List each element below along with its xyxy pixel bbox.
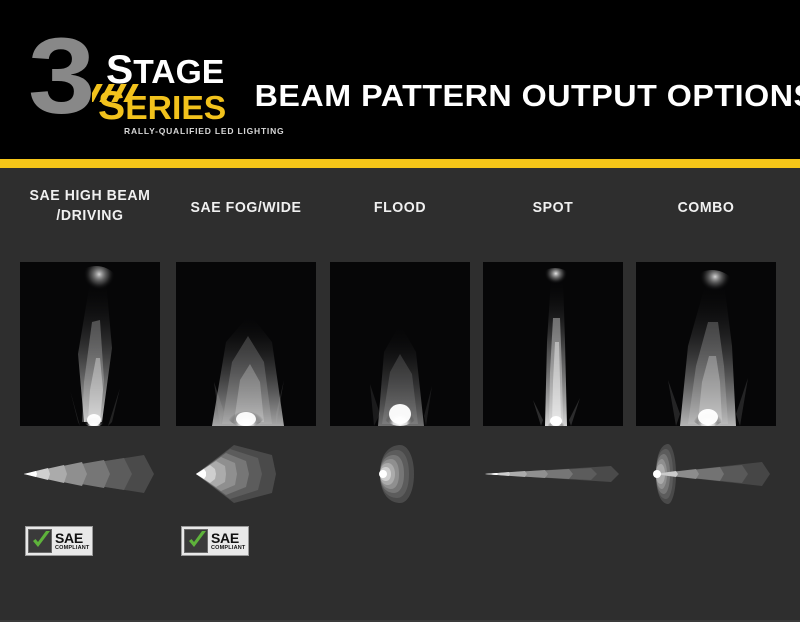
logo-tagline: RALLY-QUALIFIED LED LIGHTING — [124, 126, 284, 136]
sae-badge-main: SAE — [211, 531, 246, 545]
check-icon — [184, 529, 208, 553]
stage-series-logo: 3 STAGE SERIES RALLY-QUALIFIED LED LIGHT… — [28, 26, 258, 134]
sae-badge-sub: COMPLIANT — [55, 546, 90, 552]
beam-column-spot: SPOT — [483, 168, 623, 622]
sae-badge-text: SAE COMPLIANT — [55, 531, 90, 552]
check-icon — [28, 529, 52, 553]
logo-numeral-3: 3 — [28, 26, 91, 126]
night-photo-combo — [636, 262, 776, 426]
beam-pattern-columns: SAE HIGH BEAM /DRIVING — [0, 168, 800, 622]
beam-column-fog-wide: SAE FOG/WIDE — [176, 168, 316, 622]
logo-word-series: SERIES — [98, 90, 226, 124]
logo-series-cap: S — [98, 84, 125, 128]
column-label-combo: COMBO — [625, 198, 787, 218]
sae-badge-sub: COMPLIANT — [211, 546, 246, 552]
column-label-flood: FLOOD — [319, 198, 481, 218]
beam-pattern-infographic: 3 STAGE SERIES RALLY-QUALIFIED LED LIGHT… — [0, 0, 800, 622]
sae-compliant-badge-driving: SAE COMPLIANT — [25, 526, 93, 556]
sae-compliant-badge-fog-wide: SAE COMPLIANT — [181, 526, 249, 556]
column-label-spot: SPOT — [472, 198, 634, 218]
column-label-line1: FLOOD — [374, 199, 426, 216]
yellow-accent-divider — [0, 159, 800, 168]
logo-word-stage: STAGE — [106, 54, 224, 88]
sae-badge-text: SAE COMPLIANT — [211, 531, 246, 552]
page-title: BEAM PATTERN OUTPUT OPTIONS — [255, 78, 796, 114]
logo-stage-rest: TAGE — [133, 53, 224, 90]
beam-diagram-flood — [330, 443, 470, 505]
beam-column-driving: SAE HIGH BEAM /DRIVING — [20, 168, 160, 622]
beam-diagram-driving — [20, 443, 160, 505]
column-label-line1: SPOT — [533, 199, 574, 216]
column-label-line1: SAE HIGH BEAM — [30, 187, 151, 204]
beam-diagram-combo — [636, 443, 776, 505]
column-label-line2: /DRIVING — [56, 207, 123, 224]
sae-badge-main: SAE — [55, 531, 90, 545]
beam-column-combo: COMBO — [636, 168, 776, 622]
header-bar: 3 STAGE SERIES RALLY-QUALIFIED LED LIGHT… — [0, 0, 800, 159]
column-label-fog-wide: SAE FOG/WIDE — [165, 198, 327, 218]
night-photo-driving — [20, 262, 160, 426]
night-photo-fog-wide — [176, 262, 316, 426]
column-label-driving: SAE HIGH BEAM /DRIVING — [9, 186, 171, 226]
night-photo-spot — [483, 262, 623, 426]
logo-series-rest: ERIES — [125, 89, 226, 126]
night-photo-flood — [330, 262, 470, 426]
beam-diagram-fog-wide — [176, 443, 316, 505]
beam-column-flood: FLOOD — [330, 168, 470, 622]
column-label-line1: COMBO — [678, 199, 735, 216]
beam-diagram-spot — [483, 443, 623, 505]
column-label-line1: SAE FOG/WIDE — [191, 199, 302, 216]
